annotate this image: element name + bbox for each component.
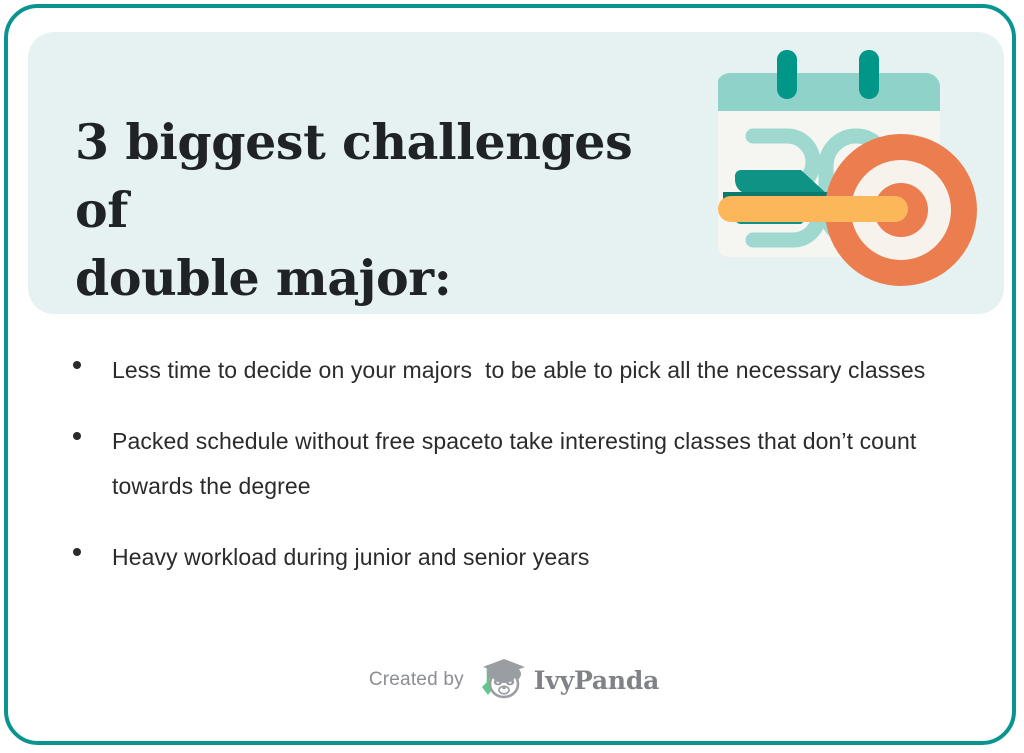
list-item: Packed schedule without free spaceto tak… (8, 419, 1016, 509)
list-item-text: Packed schedule without free spaceto tak… (112, 419, 952, 509)
calendar-header-band (718, 73, 940, 111)
content-card: 3 biggest challenges of double major: (4, 4, 1016, 745)
bullet-dot-icon (73, 432, 81, 440)
list-item-text: Heavy workload during junior and senior … (112, 535, 952, 580)
panda-graduate-icon (474, 657, 528, 703)
page-title: 3 biggest challenges of double major: (75, 108, 695, 312)
calendar-ring-left-front (777, 50, 797, 99)
calendar-target-arrow-illustration (718, 40, 988, 306)
list-item: Less time to decide on your majors to be… (8, 348, 1016, 393)
header-panel: 3 biggest challenges of double major: (28, 32, 1004, 314)
created-by-label: Created by (369, 669, 464, 691)
footer-attribution: Created by IvyPanda (8, 657, 1016, 703)
arrow-shaft (718, 196, 908, 222)
bullet-dot-icon (73, 548, 81, 556)
list-item-text: Less time to decide on your majors to be… (112, 348, 952, 393)
list-item: Heavy workload during junior and senior … (8, 535, 1016, 580)
bullet-dot-icon (73, 361, 81, 369)
challenges-list: Less time to decide on your majors to be… (8, 348, 1016, 606)
calendar-ring-right-front (859, 50, 879, 99)
brand-name: IvyPanda (534, 666, 659, 695)
